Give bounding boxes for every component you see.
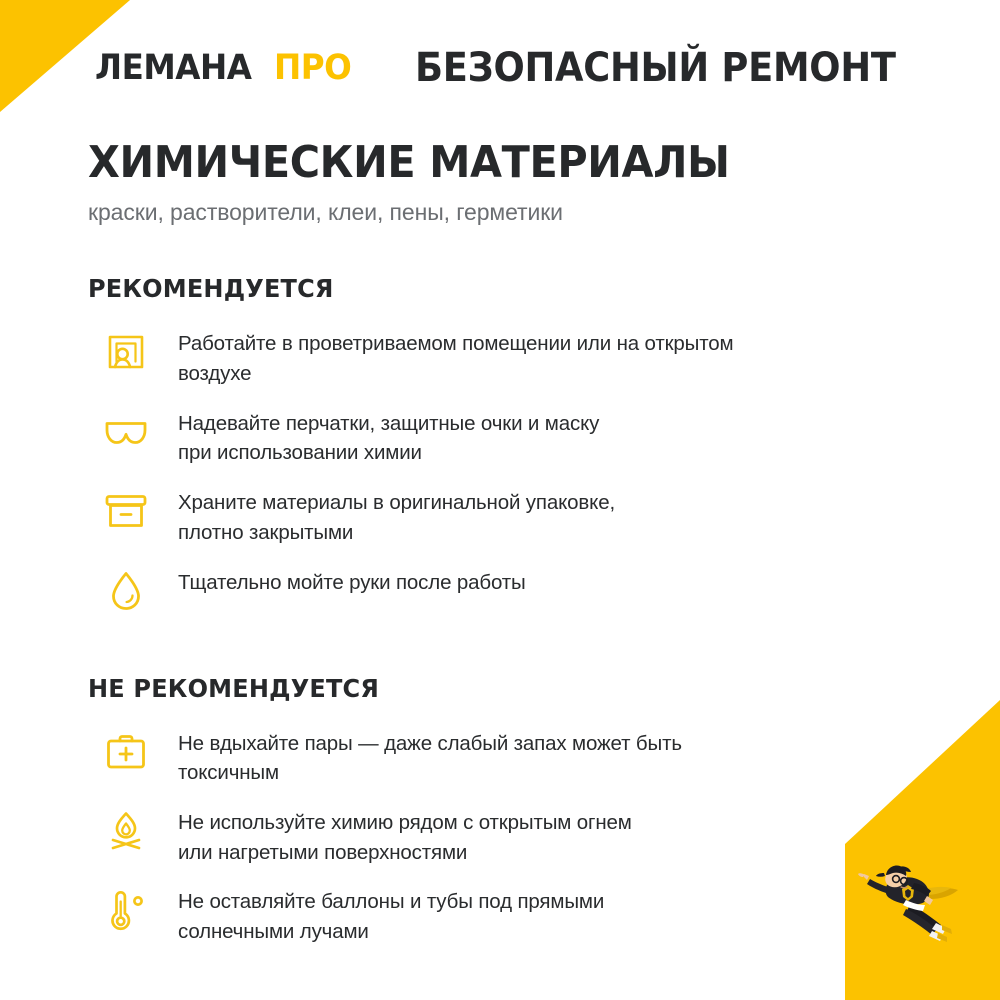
list-item-text: Не оставляйте баллоны и тубы под прямыми…	[156, 883, 928, 946]
list-item-text: Тщательно мойте руки после работы	[156, 564, 928, 598]
section-heading-recommended: РЕКОМЕНДУЕТСЯ	[88, 274, 894, 303]
page-subtitle: краски, растворители, клеи, пены, гермет…	[88, 199, 928, 226]
list-item: Надевайте перчатки, защитные очки и маск…	[88, 405, 928, 468]
section-not-recommended: НЕ РЕКОМЕНДУЕТСЯ Не вдыхайте пары — даже…	[88, 674, 928, 947]
poster-content: ХИМИЧЕСКИЕ МАТЕРИАЛЫ краски, растворител…	[88, 140, 928, 947]
list-item-text: Храните материалы в оригинальной упаковк…	[156, 484, 928, 547]
list-item: Не вдыхайте пары — даже слабый запах мож…	[88, 725, 928, 788]
brand-logo: ЛЕМАНА ПРО	[95, 48, 357, 88]
not-recommended-list: Не вдыхайте пары — даже слабый запах мож…	[88, 725, 928, 947]
list-item: Работайте в проветриваемом помещении или…	[88, 325, 928, 388]
list-item-text: Не вдыхайте пары — даже слабый запах мож…	[156, 725, 928, 788]
campfire-flame-icon	[96, 806, 156, 856]
brand-logo-pro-text: ПРО	[274, 48, 351, 88]
safety-goggles-icon	[96, 407, 156, 457]
page-title: ХИМИЧЕСКИЕ МАТЕРИАЛЫ	[88, 140, 878, 186]
poster-header: ЛЕМАНА ПРО БЕЗОПАСНЫЙ РЕМОНТ	[0, 40, 1000, 96]
campaign-title: БЕЗОПАСНЫЙ РЕМОНТ	[415, 45, 896, 91]
section-recommended: РЕКОМЕНДУЕТСЯ Работайте в проветриваемом…	[88, 274, 928, 615]
flying-superhero-mascot	[850, 847, 980, 952]
storage-box-icon	[96, 486, 156, 536]
list-item: Храните материалы в оригинальной упаковк…	[88, 484, 928, 547]
ventilated-room-icon	[96, 327, 156, 377]
list-item: Не используйте химию рядом с открытым ог…	[88, 804, 928, 867]
thermometer-sun-icon	[96, 885, 156, 935]
list-item: Не оставляйте баллоны и тубы под прямыми…	[88, 883, 928, 946]
poster-canvas: ЛЕМАНА ПРО БЕЗОПАСНЫЙ РЕМОНТ ХИМИЧЕСКИЕ …	[0, 0, 1000, 1000]
brand-logo-main-text: ЛЕМАНА	[95, 48, 252, 88]
list-item-text: Не используйте химию рядом с открытым ог…	[156, 804, 928, 867]
list-item: Тщательно мойте руки после работы	[88, 564, 928, 616]
recommended-list: Работайте в проветриваемом помещении или…	[88, 325, 928, 615]
list-item-text: Работайте в проветриваемом помещении или…	[156, 325, 928, 388]
water-drop-icon	[96, 566, 156, 616]
section-heading-not-recommended: НЕ РЕКОМЕНДУЕТСЯ	[88, 674, 894, 703]
first-aid-kit-icon	[96, 727, 156, 777]
list-item-text: Надевайте перчатки, защитные очки и маск…	[156, 405, 928, 468]
